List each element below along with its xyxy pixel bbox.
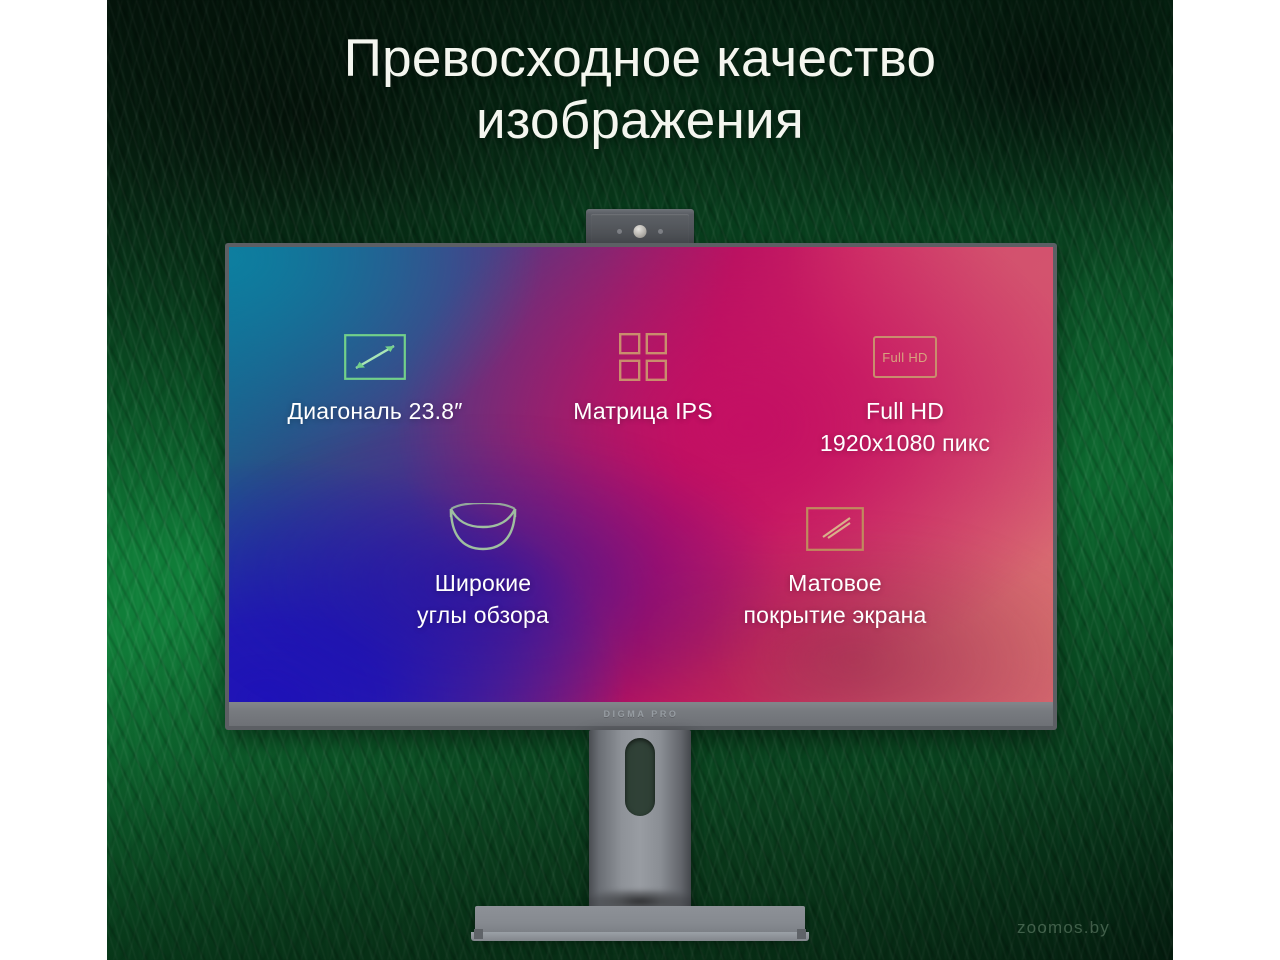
stand-foot-right bbox=[797, 929, 806, 939]
diagonal-arrow-icon bbox=[225, 329, 525, 385]
camera-lens-icon bbox=[634, 225, 647, 238]
feature-fullhd-label: Full HD 1920x1080 пикс bbox=[745, 395, 1065, 459]
pop-up-webcam bbox=[586, 209, 694, 246]
feature-viewing-angles-label: Широкие углы обзора bbox=[333, 567, 633, 631]
webcam-sensor-right-icon bbox=[658, 229, 663, 234]
feature-matte-coating-label: Матовое покрытие экрана bbox=[665, 567, 1005, 631]
full-hd-badge-text: Full HD bbox=[873, 336, 937, 378]
feature-fullhd: Full HD Full HD 1920x1080 пикс bbox=[745, 329, 1065, 459]
feature-diagonal-label: Диагональ 23.8″ bbox=[225, 395, 525, 427]
curved-screen-icon bbox=[333, 501, 633, 557]
watermark: zoomos.by bbox=[1017, 918, 1110, 938]
stand-foot-left bbox=[474, 929, 483, 939]
feature-callouts: Диагональ 23.8″ Матрица IPS Full HD Full… bbox=[225, 243, 1057, 730]
feature-matrix-label: Матрица IPS bbox=[503, 395, 783, 427]
matte-screen-glare-icon bbox=[665, 501, 1005, 557]
full-hd-badge-icon: Full HD bbox=[745, 329, 1065, 385]
cable-management-slot bbox=[625, 738, 655, 816]
webcam-housing bbox=[591, 214, 689, 244]
feature-matte-coating: Матовое покрытие экрана bbox=[665, 501, 1005, 631]
product-banner: Превосходное качество изображения DIGMA … bbox=[0, 0, 1280, 960]
grid-four-squares-icon bbox=[503, 329, 783, 385]
feature-matrix: Матрица IPS bbox=[503, 329, 783, 427]
webcam-sensor-left-icon bbox=[617, 229, 622, 234]
feature-diagonal: Диагональ 23.8″ bbox=[225, 329, 525, 427]
stand-base-lip bbox=[471, 932, 809, 941]
feature-viewing-angles: Широкие углы обзора bbox=[333, 501, 633, 631]
